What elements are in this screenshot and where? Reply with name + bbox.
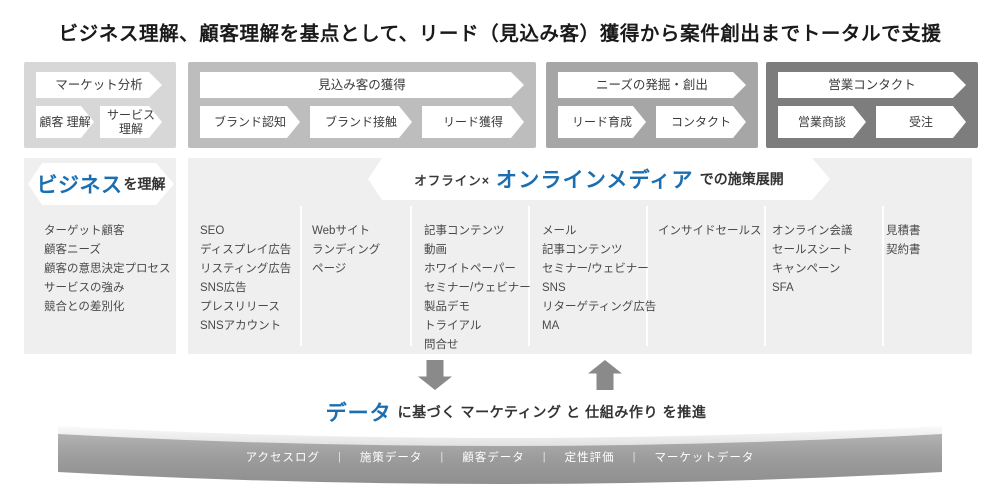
stage-sub-sales-meeting: 営業商談: [778, 106, 866, 138]
arrow-up-icon: [588, 360, 622, 390]
list-item: ディスプレイ広告: [200, 241, 308, 260]
badge-media-blue-text: オンラインメディア: [496, 164, 694, 194]
list-business-understanding: ターゲット顧客顧客ニーズ顧客の意思決定プロセスサービスの強み競合との差別化: [44, 222, 174, 317]
list-item: SNS: [542, 279, 658, 298]
data-source-label: マーケットデータ: [654, 449, 754, 465]
badge-data-dark-text: に基づく マーケティング と 仕組み作り を推進: [398, 402, 707, 422]
label-separator: |: [633, 451, 637, 463]
list-item: SNSアカウント: [200, 317, 308, 336]
list-item: トライアル: [424, 317, 536, 336]
list-lead-nurturing: メール記事コンテンツセミナー/ウェビナーSNSリターゲティング広告MA: [542, 222, 658, 336]
list-item: プレスリリース: [200, 298, 308, 317]
label-separator: |: [543, 451, 547, 463]
list-lead-acquisition-tactics: 記事コンテンツ動画ホワイトペーパーセミナー/ウェビナー製品デモトライアル問合せ: [424, 222, 536, 355]
stage-header-market-analysis: マーケット分析: [36, 72, 162, 98]
stage-header-lead-acquisition: 見込み客の獲得: [200, 72, 524, 98]
list-item: SNS広告: [200, 279, 308, 298]
list-item: インサイドセールス: [658, 222, 770, 241]
list-item: リターゲティング広告: [542, 298, 658, 317]
list-contact-tactics: インサイドセールス: [658, 222, 770, 241]
list-item: 動画: [424, 241, 536, 260]
list-item: ランディング ページ: [312, 241, 418, 279]
list-item: 顧客の意思決定プロセス: [44, 260, 174, 279]
list-item: 競合との差別化: [44, 298, 174, 317]
list-order: 見積書契約書: [886, 222, 976, 260]
list-item: SEO: [200, 222, 308, 241]
stage-band-sales-contact: 営業コンタクト 営業商談 受注: [766, 62, 978, 148]
stage-sub-contact: コンタクト: [656, 106, 746, 138]
list-item: 見積書: [886, 222, 976, 241]
stage-sub-service-understanding: サービス 理解: [100, 106, 162, 138]
list-item: ターゲット顧客: [44, 222, 174, 241]
data-source-label: 顧客データ: [462, 449, 525, 465]
stage-header-sales-contact: 営業コンタクト: [778, 72, 966, 98]
list-item: キャンペーン: [772, 260, 884, 279]
badge-media-small-text: オフライン×: [414, 170, 490, 189]
label-separator: |: [338, 451, 342, 463]
stage-sub-order: 受注: [876, 106, 966, 138]
list-item: 顧客ニーズ: [44, 241, 174, 260]
label-separator: |: [440, 451, 444, 463]
data-source-label: 定性評価: [565, 449, 615, 465]
list-item: 契約書: [886, 241, 976, 260]
badge-data-driven: データに基づく マーケティング と 仕組み作り を推進: [292, 391, 740, 433]
list-brand-contact: Webサイトランディング ページ: [312, 222, 418, 279]
list-item: 製品デモ: [424, 298, 536, 317]
data-source-list: アクセスログ|施策データ|顧客データ|定性評価|マーケットデータ: [0, 449, 1000, 465]
stage-header-needs-creation: ニーズの発掘・創出: [558, 72, 746, 98]
badge-business-dark-text: を理解: [124, 174, 166, 194]
stage-sub-customer-understanding: 顧客 理解: [36, 106, 94, 138]
list-item: MA: [542, 317, 658, 336]
list-item: セミナー/ウェビナー: [424, 279, 536, 298]
list-item: Webサイト: [312, 222, 418, 241]
list-item: オンライン会議: [772, 222, 884, 241]
list-item: リスティング広告: [200, 260, 308, 279]
list-item: 問合せ: [424, 336, 536, 355]
list-item: セールスシート: [772, 241, 884, 260]
list-item: SFA: [772, 279, 884, 298]
diagram-canvas: ビジネス理解、顧客理解を基点として、リード（見込み客）獲得から案件創出までトータ…: [0, 0, 1000, 501]
badge-business-understanding: ビジネスを理解: [28, 163, 174, 205]
stage-band-needs-creation: ニーズの発掘・創出 リード育成 コンタクト: [546, 62, 758, 148]
stage-band-lead-acquisition: 見込み客の獲得 ブランド認知 ブランド接触 リード獲得: [188, 62, 536, 148]
list-sales-meeting: オンライン会議セールスシートキャンペーンSFA: [772, 222, 884, 298]
data-source-label: 施策データ: [360, 449, 423, 465]
list-item: 記事コンテンツ: [424, 222, 536, 241]
arrow-down-icon: [418, 360, 452, 390]
stage-sub-lead-capture: リード獲得: [422, 106, 524, 138]
badge-data-blue-text: データ: [326, 397, 392, 427]
badge-online-media: オフライン×オンラインメディアでの施策展開: [368, 158, 830, 200]
list-item: セミナー/ウェビナー: [542, 260, 658, 279]
stage-band-market-analysis: マーケット分析 顧客 理解 サービス 理解: [24, 62, 176, 148]
badge-media-dark-text: での施策展開: [700, 169, 784, 189]
data-source-label: アクセスログ: [246, 449, 320, 465]
list-item: メール: [542, 222, 658, 241]
badge-business-blue-text: ビジネス: [37, 169, 123, 199]
page-title: ビジネス理解、顧客理解を基点として、リード（見込み客）獲得から案件創出までトータ…: [0, 17, 1000, 46]
list-brand-awareness: SEOディスプレイ広告リスティング広告SNS広告プレスリリースSNSアカウント: [200, 222, 308, 336]
list-item: ホワイトペーパー: [424, 260, 536, 279]
stage-sub-lead-nurturing: リード育成: [558, 106, 646, 138]
stage-sub-brand-contact: ブランド接触: [310, 106, 412, 138]
list-item: 記事コンテンツ: [542, 241, 658, 260]
stage-sub-brand-awareness: ブランド認知: [200, 106, 300, 138]
list-item: サービスの強み: [44, 279, 174, 298]
